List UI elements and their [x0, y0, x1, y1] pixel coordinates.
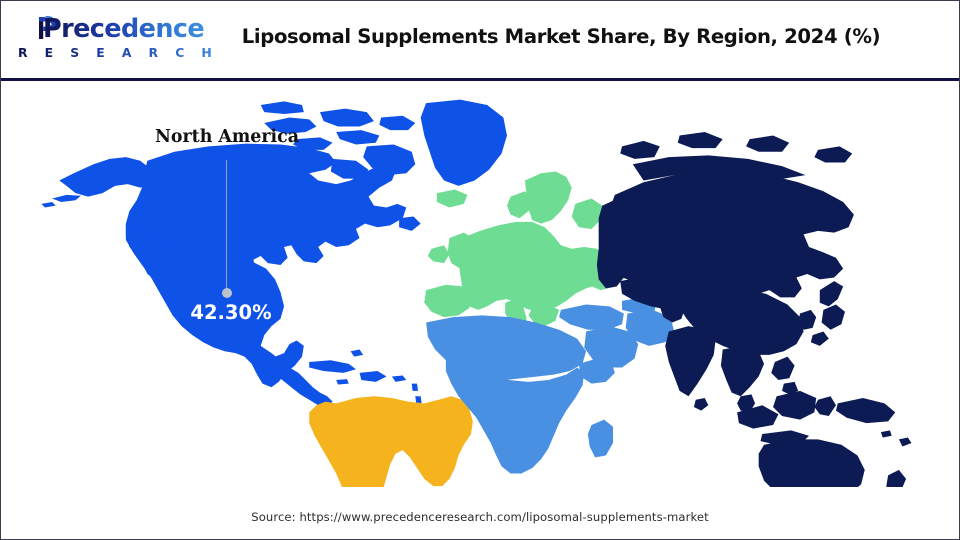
footer-bar: Source: https://www.precedenceresearch.c…	[1, 508, 959, 526]
page-title: Liposomal Supplements Market Share, By R…	[179, 25, 943, 48]
header-bar: Precedence R E S E A R C H Liposomal Sup…	[1, 1, 959, 79]
map-region-latin-america[interactable]	[309, 396, 473, 487]
map-region-middle-east-africa[interactable]	[426, 297, 674, 473]
infographic-root: Precedence R E S E A R C H Liposomal Sup…	[0, 0, 960, 540]
precedence-research-logo: Precedence R E S E A R C H	[17, 15, 167, 67]
source-link[interactable]: Source: https://www.precedenceresearch.c…	[251, 510, 708, 524]
logo-subtitle: R E S E A R C H	[18, 47, 218, 59]
map-stage	[1, 81, 960, 491]
world-map	[39, 87, 939, 487]
